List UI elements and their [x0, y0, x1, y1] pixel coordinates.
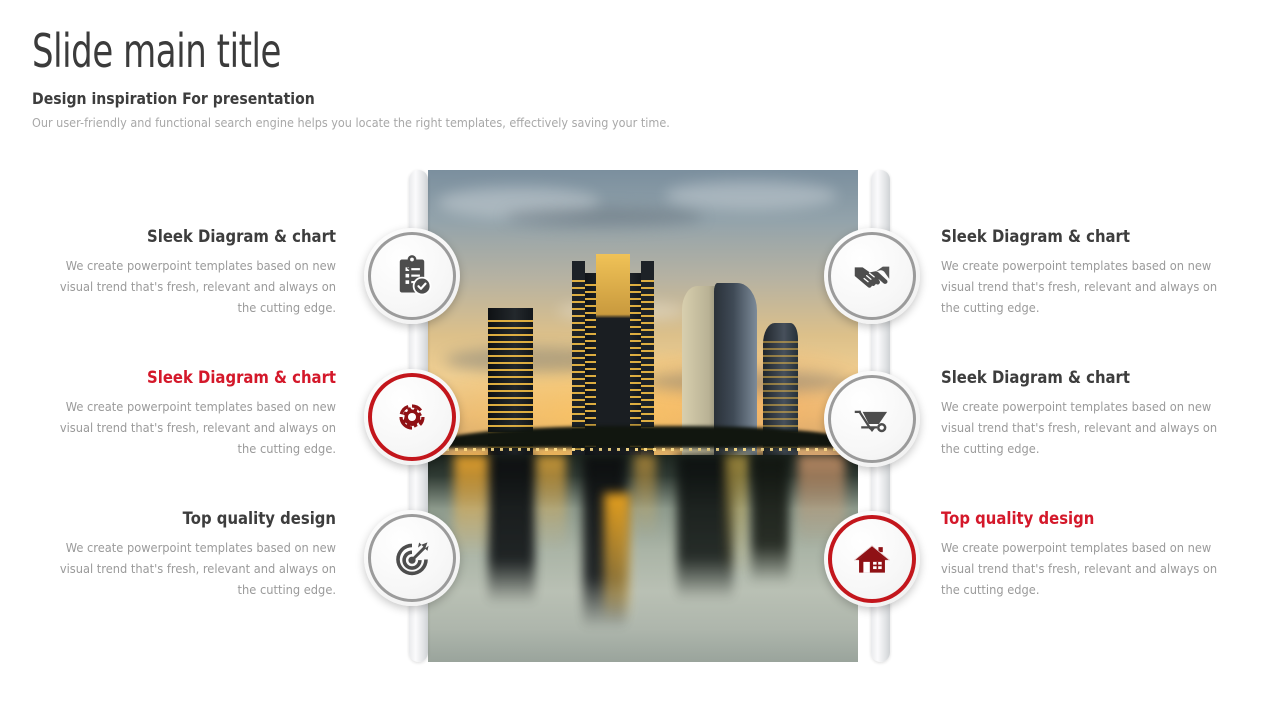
feature-body: We create powerpoint templates based on …: [52, 256, 336, 319]
feature-title: Sleek Diagram & chart: [941, 227, 1216, 247]
target-arrow-icon: [389, 535, 435, 581]
feature-title: Sleek Diagram & chart: [62, 227, 337, 247]
reflection-band: [536, 455, 566, 550]
gear-settings-icon: [389, 394, 435, 440]
feature-block-left-2: Sleek Diagram & chart We create powerpoi…: [31, 368, 336, 460]
icon-circle-home[interactable]: [824, 511, 920, 607]
feature-title: Sleek Diagram & chart: [62, 368, 337, 388]
feature-block-right-2: Sleek Diagram & chart We create powerpoi…: [941, 368, 1246, 460]
city-skyline-photo: [428, 170, 858, 662]
icon-circle-wheelbarrow[interactable]: [824, 371, 920, 467]
feature-block-right-1: Sleek Diagram & chart We create powerpoi…: [941, 227, 1246, 319]
feature-body: We create powerpoint templates based on …: [941, 538, 1225, 601]
icon-circle-gear[interactable]: [364, 369, 460, 465]
feature-body: We create powerpoint templates based on …: [52, 397, 336, 460]
icon-circle-clipboard[interactable]: [364, 228, 460, 324]
clipboard-check-icon: [389, 253, 435, 299]
water-reflection: [428, 455, 858, 662]
handshake-icon: [849, 253, 895, 299]
icon-circle-target[interactable]: [364, 510, 460, 606]
slide-header: Slide main title Design inspiration For …: [32, 24, 792, 132]
feature-title: Sleek Diagram & chart: [941, 368, 1216, 388]
shore-lights: [428, 448, 858, 451]
feature-block-left-3: Top quality design We create powerpoint …: [31, 509, 336, 601]
feature-body: We create powerpoint templates based on …: [52, 538, 336, 601]
slide-description: Our user-friendly and functional search …: [32, 114, 716, 132]
reflection-band: [454, 455, 488, 554]
reflection-band: [604, 493, 630, 621]
feature-title: Top quality design: [941, 509, 1216, 529]
slide-subtitle: Design inspiration For presentation: [32, 88, 701, 110]
feature-body: We create powerpoint templates based on …: [941, 397, 1225, 460]
page-title: Slide main title: [32, 24, 655, 78]
cloud-shape: [665, 181, 837, 210]
feature-block-left-1: Sleek Diagram & chart We create powerpoi…: [31, 227, 336, 319]
reflection-band: [488, 455, 535, 604]
reflection-band: [634, 455, 656, 538]
feature-block-right-3: Top quality design We create powerpoint …: [941, 509, 1246, 601]
home-icon: [849, 536, 895, 582]
cloud-shape: [505, 207, 703, 227]
reflection-band: [725, 455, 751, 575]
icon-circle-handshake[interactable]: [824, 228, 920, 324]
reflection-band: [751, 455, 790, 583]
wheelbarrow-icon: [849, 396, 895, 442]
feature-title: Top quality design: [62, 509, 337, 529]
feature-body: We create powerpoint templates based on …: [941, 256, 1225, 319]
